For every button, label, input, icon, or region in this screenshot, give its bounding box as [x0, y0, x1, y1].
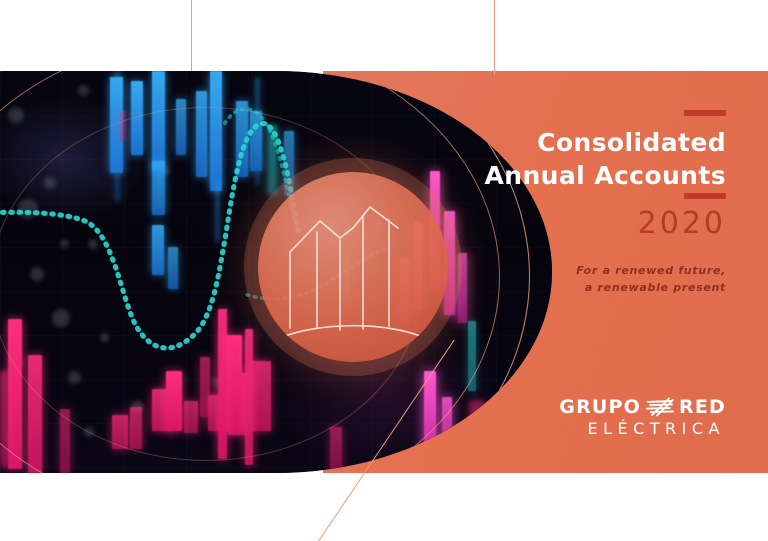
brand-logo-line-1: GRUPO RED: [406, 396, 726, 418]
title-accent-dash-top: [684, 110, 726, 116]
report-cover: Consolidated Annual Accounts 2020 For a …: [0, 0, 768, 541]
red-electrica-wing-icon: [645, 397, 675, 417]
brand-logo-line-2: ELÉCTRICA: [406, 419, 726, 438]
decorative-vertical-line-right: [494, 0, 495, 75]
cover-year: 2020: [406, 206, 726, 241]
brand-name-red: RED: [679, 396, 726, 418]
cover-tagline-line-1: For a renewed future,: [406, 262, 726, 279]
page-title-line-2: Annual Accounts: [406, 159, 726, 192]
decorative-vertical-line-left: [191, 0, 192, 71]
title-accent-dash-bottom: [684, 193, 726, 199]
brand-logo: GRUPO RED ELÉCTRICA: [406, 396, 726, 438]
cover-tagline: For a renewed future, a renewable presen…: [406, 262, 726, 296]
brand-name-grupo: GRUPO: [559, 396, 641, 418]
page-title-line-1: Consolidated: [406, 126, 726, 159]
page-title: Consolidated Annual Accounts: [406, 126, 726, 192]
cover-tagline-line-2: a renewable present: [406, 279, 726, 296]
